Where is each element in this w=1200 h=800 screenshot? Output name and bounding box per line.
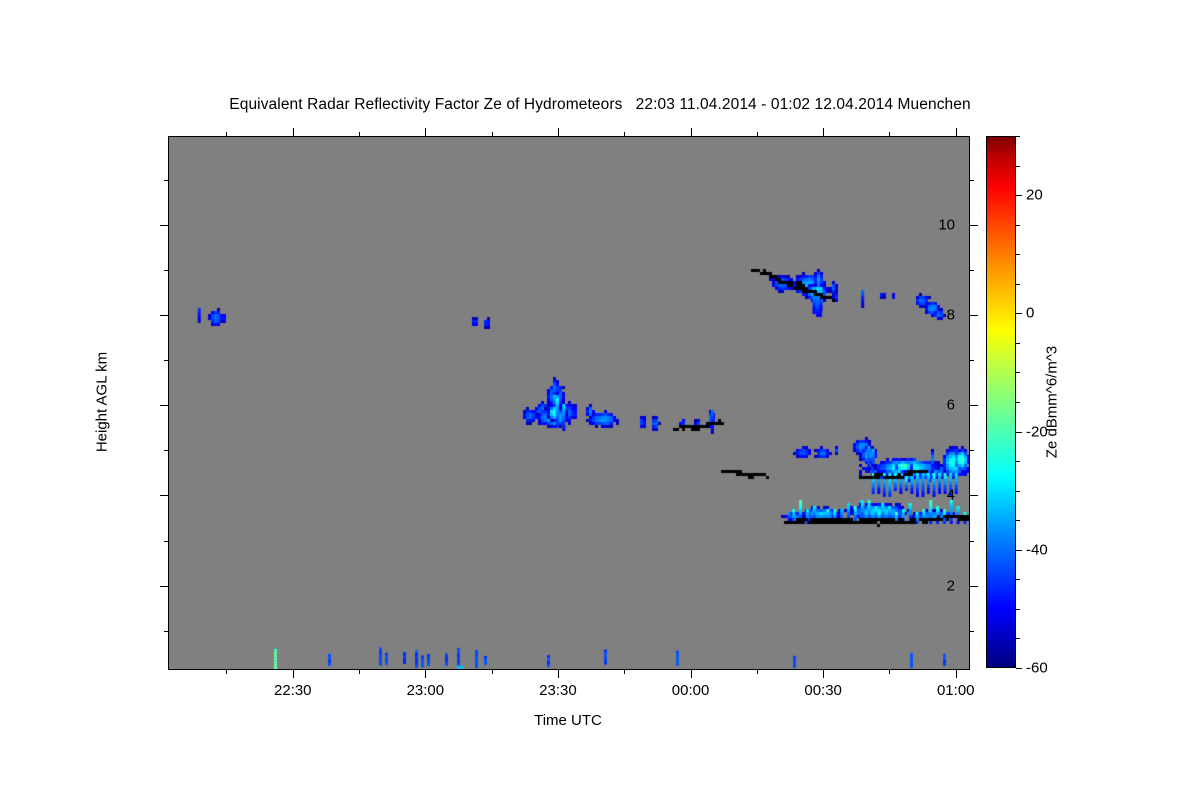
colorbar-tick xyxy=(1016,668,1022,669)
y-tick-major-right xyxy=(969,586,978,587)
y-tick-minor xyxy=(164,180,169,181)
y-tick-label: 4 xyxy=(947,487,955,504)
colorbar-tick-minor xyxy=(1016,638,1020,639)
x-tick-major xyxy=(823,669,824,678)
y-tick-major-right xyxy=(969,225,978,226)
y-tick-label: 10 xyxy=(938,216,955,233)
colorbar-tick-minor xyxy=(1016,254,1020,255)
colorbar-tick-minor xyxy=(1016,491,1020,492)
reflectivity-heatmap-canvas xyxy=(169,137,969,669)
colorbar-tick-minor xyxy=(1016,343,1020,344)
page-title: Equivalent Radar Reflectivity Factor Ze … xyxy=(0,96,1200,114)
y-tick-label: 6 xyxy=(947,397,955,414)
y-tick-minor-right xyxy=(969,180,974,181)
y-tick-minor-right xyxy=(969,541,974,542)
x-tick-major xyxy=(558,669,559,678)
colorbar-tick-minor xyxy=(1016,372,1020,373)
y-tick-minor-right xyxy=(969,270,974,271)
colorbar-tick-label: -60 xyxy=(1026,660,1048,677)
x-tick-major-top xyxy=(956,128,957,137)
x-tick-label: 22:30 xyxy=(274,682,312,699)
x-tick-major-top xyxy=(558,128,559,137)
y-tick-minor xyxy=(164,541,169,542)
y-tick-minor xyxy=(164,270,169,271)
x-tick-label: 23:00 xyxy=(407,682,445,699)
x-axis-title: Time UTC xyxy=(534,712,602,729)
y-tick-major xyxy=(160,315,169,316)
colorbar-tick-label: 20 xyxy=(1026,187,1043,204)
y-tick-label: 8 xyxy=(947,307,955,324)
y-tick-major xyxy=(160,405,169,406)
y-tick-major-right xyxy=(969,315,978,316)
x-tick-minor-top xyxy=(889,132,890,137)
x-tick-major xyxy=(425,669,426,678)
x-tick-minor xyxy=(492,669,493,674)
y-axis-title: Height AGL km xyxy=(94,352,111,452)
y-tick-major xyxy=(160,586,169,587)
colorbar[interactable]: -60-40-20020 xyxy=(986,136,1016,668)
colorbar-gradient xyxy=(986,136,1016,668)
colorbar-tick-label: -40 xyxy=(1026,541,1048,558)
colorbar-tick xyxy=(1016,195,1022,196)
colorbar-tick-minor xyxy=(1016,402,1020,403)
x-tick-minor xyxy=(757,669,758,674)
x-tick-minor xyxy=(226,669,227,674)
colorbar-tick-minor xyxy=(1016,136,1020,137)
colorbar-tick xyxy=(1016,550,1022,551)
x-tick-minor xyxy=(359,669,360,674)
colorbar-tick-minor xyxy=(1016,520,1020,521)
x-tick-label: 00:00 xyxy=(672,682,710,699)
colorbar-tick-minor xyxy=(1016,579,1020,580)
x-tick-major xyxy=(293,669,294,678)
x-tick-minor xyxy=(624,669,625,674)
colorbar-tick-minor xyxy=(1016,609,1020,610)
x-tick-minor-top xyxy=(624,132,625,137)
y-tick-major xyxy=(160,495,169,496)
colorbar-tick-label: 0 xyxy=(1026,305,1034,322)
y-tick-minor xyxy=(164,360,169,361)
x-tick-minor-top xyxy=(226,132,227,137)
x-tick-major-top xyxy=(425,128,426,137)
x-tick-major xyxy=(691,669,692,678)
x-tick-minor-top xyxy=(492,132,493,137)
colorbar-tick-minor xyxy=(1016,225,1020,226)
y-tick-minor xyxy=(164,450,169,451)
y-tick-minor-right xyxy=(969,631,974,632)
y-tick-major-right xyxy=(969,405,978,406)
y-tick-major xyxy=(160,225,169,226)
y-tick-minor xyxy=(164,631,169,632)
y-tick-major-right xyxy=(969,495,978,496)
x-tick-label: 01:00 xyxy=(937,682,975,699)
plot-area[interactable]: 24681022:3023:0023:3000:0000:3001:00 xyxy=(168,136,970,670)
x-tick-minor-top xyxy=(757,132,758,137)
x-tick-minor xyxy=(889,669,890,674)
x-tick-major-top xyxy=(691,128,692,137)
colorbar-tick-minor xyxy=(1016,461,1020,462)
y-tick-label: 2 xyxy=(947,577,955,594)
radar-reflectivity-figure: Equivalent Radar Reflectivity Factor Ze … xyxy=(0,0,1200,800)
colorbar-tick-minor xyxy=(1016,166,1020,167)
x-tick-minor-top xyxy=(359,132,360,137)
colorbar-tick xyxy=(1016,313,1022,314)
y-tick-minor-right xyxy=(969,450,974,451)
colorbar-title: Ze dBmm^6/m^3 xyxy=(1044,346,1061,458)
x-tick-major xyxy=(956,669,957,678)
x-tick-label: 00:30 xyxy=(804,682,842,699)
y-tick-minor-right xyxy=(969,360,974,361)
colorbar-tick-minor xyxy=(1016,284,1020,285)
colorbar-tick xyxy=(1016,432,1022,433)
x-tick-major-top xyxy=(293,128,294,137)
x-tick-label: 23:30 xyxy=(539,682,577,699)
x-tick-major-top xyxy=(823,128,824,137)
